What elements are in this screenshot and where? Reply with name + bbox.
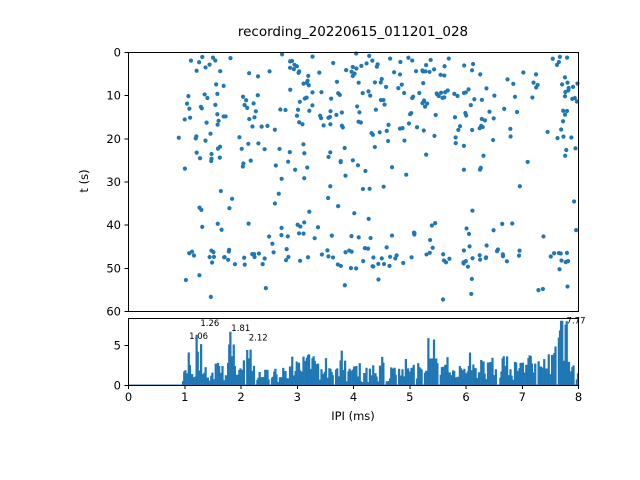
scatter-point (357, 235, 361, 239)
scatter-point (395, 253, 399, 257)
scatter-point (502, 107, 506, 111)
scatter-point (210, 260, 214, 264)
scatter-point (396, 86, 400, 90)
scatter-point (273, 201, 277, 205)
scatter-point (513, 95, 517, 99)
scatter-point (511, 82, 515, 86)
scatter-point (274, 163, 278, 167)
scatter-point (267, 234, 271, 238)
scatter-point (326, 116, 330, 120)
scatter-point (432, 67, 436, 71)
scatter-point (331, 255, 335, 259)
scatter-point (565, 284, 569, 288)
scatter-point (340, 110, 344, 114)
scatter-point (361, 259, 365, 263)
scatter-point (414, 69, 418, 73)
scatter-point (307, 109, 311, 113)
scatter-point (424, 153, 428, 157)
scatter-point (400, 126, 404, 130)
scatter-point (545, 130, 549, 134)
matplotlib-figure: recording_20220615_011201_028 0102030405… (0, 0, 640, 480)
scatter-point (530, 95, 534, 99)
scatter-point (306, 79, 310, 83)
scatter-point (508, 134, 512, 138)
scatter-point (454, 135, 458, 139)
scatter-point (431, 246, 435, 250)
scatter-point (469, 103, 473, 107)
scatter-point (361, 187, 365, 191)
scatter-point (325, 248, 329, 252)
scatter-point (541, 287, 545, 291)
scatter-point (267, 69, 271, 73)
scatter-point (215, 112, 219, 116)
scatter-point (326, 254, 330, 258)
scatter-point (240, 147, 244, 151)
y-tick-label: 60 (106, 305, 121, 319)
scatter-point (560, 82, 564, 86)
scatter-point (344, 68, 348, 72)
scatter-point (216, 119, 220, 123)
scatter-point (277, 192, 281, 196)
scatter-point (350, 250, 354, 254)
scatter-point (205, 96, 209, 100)
scatter-point (453, 115, 457, 119)
scatter-point (534, 72, 538, 76)
scatter-point (336, 91, 340, 95)
x-tick-label: 5 (406, 390, 413, 404)
scatter-point (265, 124, 269, 128)
scatter-point (478, 258, 482, 262)
scatter-point (208, 255, 212, 259)
scatter-point (464, 226, 468, 230)
scatter-point (177, 136, 181, 140)
scatter-point (250, 124, 254, 128)
scatter-point (428, 238, 432, 242)
scatter-point (398, 72, 402, 76)
scatter-point (209, 248, 213, 252)
scatter-point (427, 70, 431, 74)
scatter-point (376, 62, 380, 66)
scatter-point (227, 206, 231, 210)
scatter-point (209, 152, 213, 156)
scatter-point (343, 146, 347, 150)
scatter-point (200, 106, 204, 110)
scatter-point (384, 85, 388, 89)
x-tick-label: 3 (294, 390, 301, 404)
peak-annotation-label: 1.81 (231, 324, 250, 334)
scatter-point (373, 80, 377, 84)
scatter-point (398, 60, 402, 64)
scatter-point (200, 55, 204, 59)
peak-annotation-label: 7.77 (567, 317, 586, 327)
scatter-point (243, 263, 247, 267)
scatter-point (194, 134, 198, 138)
scatter-point (359, 64, 363, 68)
scatter-point (378, 130, 382, 134)
scatter-point (565, 81, 569, 85)
scatter-point (559, 251, 563, 255)
x-tick-label: 1 (181, 390, 188, 404)
scatter-point (222, 84, 226, 88)
scatter-point (290, 59, 294, 63)
scatter-point (385, 245, 389, 249)
scatter-point (549, 254, 553, 258)
scatter-point (555, 136, 559, 140)
scatter-point (264, 286, 268, 290)
scatter-point (434, 113, 438, 117)
scatter-point (371, 255, 375, 259)
scatter-point (390, 165, 394, 169)
scatter-point (561, 119, 565, 123)
scatter-point (297, 231, 301, 235)
scatter-point (492, 116, 496, 120)
peak-annotation-label: 1.06 (189, 332, 208, 342)
scatter-point (462, 248, 466, 252)
scatter-point (462, 63, 466, 67)
y-tick-label: 40 (106, 218, 121, 232)
scatter-point (270, 242, 274, 246)
scatter-point (197, 273, 201, 277)
scatter-point (339, 159, 343, 163)
scatter-point (367, 217, 371, 221)
scatter-point (463, 111, 467, 115)
scatter-point (183, 117, 187, 121)
scatter-point (484, 256, 488, 260)
scatter-point (296, 223, 300, 227)
scatter-point (218, 69, 222, 73)
scatter-point (340, 124, 344, 128)
scatter-point (565, 251, 569, 255)
scatter-point (228, 56, 232, 60)
scatter-point (256, 93, 260, 97)
figure-title: recording_20220615_011201_028 (238, 24, 468, 40)
scatter-point (285, 247, 289, 251)
scatter-point (368, 94, 372, 98)
scatter-point (574, 228, 578, 232)
scatter-point (435, 91, 439, 95)
scatter-point (359, 120, 363, 124)
scatter-point (510, 221, 514, 225)
scatter-point (219, 228, 223, 232)
scatter-point (354, 66, 358, 70)
scatter-point (557, 267, 561, 271)
scatter-point (469, 292, 473, 296)
scatter-point (373, 145, 377, 149)
scatter-point (508, 127, 512, 131)
peak-annotation-label: 1.26 (200, 319, 219, 329)
scatter-point (371, 264, 375, 268)
scatter-point (242, 256, 246, 260)
scatter-point (442, 95, 446, 99)
scatter-point (292, 63, 296, 67)
scatter-point (343, 283, 347, 287)
scatter-point (411, 95, 415, 99)
scatter-point (195, 150, 199, 154)
scatter-point (442, 64, 446, 68)
scatter-point (517, 254, 521, 258)
scatter-point (572, 199, 576, 203)
scatter-point (249, 159, 253, 163)
scatter-point (212, 255, 216, 259)
scatter-point (326, 155, 330, 159)
scatter-point (313, 236, 317, 240)
scatter-point (305, 165, 309, 169)
scatter-point (363, 169, 367, 173)
scatter-point (386, 123, 390, 127)
scatter-point (279, 226, 283, 230)
scatter-point (288, 66, 292, 70)
scatter-point (183, 167, 187, 171)
scatter-point (392, 70, 396, 74)
scatter-point (386, 139, 390, 143)
scatter-point (328, 150, 332, 154)
scatter-point (301, 142, 305, 146)
scatter-point (247, 71, 251, 75)
y-tick-label: 10 (106, 89, 121, 103)
scatter-point (402, 91, 406, 95)
scatter-point (470, 128, 474, 132)
scatter-point (566, 88, 570, 92)
scatter-point (209, 295, 213, 299)
scatter-point (186, 94, 190, 98)
scatter-point (470, 209, 474, 213)
scatter-point (423, 69, 427, 73)
y-tick-label: 30 (106, 175, 121, 189)
scatter-point (441, 252, 445, 256)
scatter-point (257, 251, 261, 255)
scatter-point (288, 150, 292, 154)
scatter-point (472, 97, 476, 101)
y-tick-label: 20 (106, 132, 121, 146)
scatter-point (328, 122, 332, 126)
scatter-point (573, 146, 577, 150)
scatter-point (352, 211, 356, 215)
x-tick-label: 2 (237, 390, 244, 404)
scatter-point (406, 56, 410, 60)
scatter-point (387, 264, 391, 268)
scatter-point (424, 63, 428, 67)
scatter-point (189, 58, 193, 62)
scatter-point (442, 258, 446, 262)
scatter-point (331, 61, 335, 65)
y-tick-label: 50 (106, 261, 121, 275)
scatter-point (531, 81, 535, 85)
scatter-point (366, 89, 370, 93)
scatter-point (479, 124, 483, 128)
scatter-point (417, 91, 421, 95)
scatter-point (355, 104, 359, 108)
scatter-point (356, 163, 360, 167)
scatter-point (561, 135, 565, 139)
scatter-point (408, 112, 412, 116)
scatter-point (280, 177, 284, 181)
scatter-point (317, 71, 321, 75)
scatter-point (318, 114, 322, 118)
scatter-point (307, 83, 311, 87)
y-tick-label: 5 (114, 339, 121, 353)
scatter-point (207, 62, 211, 66)
scatter-point (483, 118, 487, 122)
scatter-point (492, 94, 496, 98)
scatter-point (447, 257, 451, 261)
scatter-point (349, 266, 353, 270)
scatter-point (402, 138, 406, 142)
scatter-point (328, 109, 332, 113)
scatter-point (204, 121, 208, 125)
scatter-point (505, 77, 509, 81)
scatter-point (484, 86, 488, 90)
scatter-point (306, 74, 310, 78)
scatter-point (357, 81, 361, 85)
scatter-point (452, 92, 456, 96)
scatter-point (216, 147, 220, 151)
scatter-point (470, 277, 474, 281)
scatter-point (252, 115, 256, 119)
scatter-point (480, 98, 484, 102)
scatter-point (330, 234, 334, 238)
scatter-point (390, 233, 394, 237)
scatter-point (551, 57, 555, 61)
scatter-point (203, 65, 207, 69)
scatter-point (570, 97, 574, 101)
scatter-point (188, 116, 192, 120)
scatter-point (303, 96, 307, 100)
scatter-point (462, 91, 466, 95)
scatter-point (316, 225, 320, 229)
peak-annotation-label: 2.12 (249, 333, 268, 343)
scatter-point (343, 174, 347, 178)
scatter-point (197, 60, 201, 64)
scatter-point (273, 128, 277, 132)
scatter-point (454, 141, 458, 145)
scatter-point (380, 256, 384, 260)
scatter-point (222, 114, 226, 118)
scatter-point (302, 151, 306, 155)
scatter-point (301, 232, 305, 236)
scatter-point (334, 113, 338, 117)
scatter-point (563, 154, 567, 158)
scatter-point (261, 262, 265, 266)
scatter-point (430, 223, 434, 227)
scatter-point (263, 256, 267, 260)
scatter-point (559, 127, 563, 131)
scatter-point (218, 156, 222, 160)
scatter-point (209, 157, 213, 161)
scatter-point (370, 59, 374, 63)
scatter-point (296, 71, 300, 75)
scatter-point (364, 61, 368, 65)
scatter-point (343, 250, 347, 254)
scatter-point (423, 105, 427, 109)
scatter-point (470, 256, 474, 260)
scatter-point (369, 236, 373, 240)
scatter-point (441, 297, 445, 301)
scatter-point (223, 255, 227, 259)
scatter-point (352, 72, 356, 76)
scatter-point (336, 204, 340, 208)
scatter-point (296, 108, 300, 112)
scatter-point (245, 106, 249, 110)
scatter-point (310, 103, 314, 107)
scatter-point (432, 134, 436, 138)
scatter-point (241, 164, 245, 168)
scatter-point (400, 83, 404, 87)
scatter-point (351, 158, 355, 162)
scatter-point (247, 221, 251, 225)
scatter-point (536, 288, 540, 292)
scatter-point (203, 139, 207, 143)
x-tick-label: 0 (125, 390, 132, 404)
scatter-point (534, 85, 538, 89)
scatter-point (422, 98, 426, 102)
scatter-point (226, 258, 230, 262)
scatter-point (521, 70, 525, 74)
scatter-point (320, 252, 324, 256)
scatter-point (292, 67, 296, 71)
scatter-point (279, 233, 283, 237)
scatter-point (283, 108, 287, 112)
scatter-point (466, 265, 470, 269)
scatter-point (467, 244, 471, 248)
scatter-point (301, 82, 305, 86)
scatter-point (518, 184, 522, 188)
scatter-point (335, 80, 339, 84)
scatter-point (471, 62, 475, 66)
scatter-point (515, 110, 519, 114)
scatter-point (199, 208, 203, 212)
scatter-point (363, 246, 367, 250)
scatter-point (351, 65, 355, 69)
scatter-point (233, 262, 237, 266)
y-tick-label: 0 (114, 379, 121, 393)
scatter-point (410, 58, 414, 62)
scatter-point (409, 255, 413, 259)
scatter-point (200, 225, 204, 229)
scatter-point (439, 91, 443, 95)
scatter-point (184, 278, 188, 282)
scatter-point (501, 252, 505, 256)
scatter-point (401, 261, 405, 265)
x-axis-label: IPI (ms) (331, 409, 375, 423)
scatter-point (467, 232, 471, 236)
scatter-point (517, 249, 521, 253)
scatter-point (286, 160, 290, 164)
scatter-point (241, 95, 245, 99)
scatter-point (185, 102, 189, 106)
scatter-point (479, 166, 483, 170)
scatter-point (500, 222, 504, 226)
scatter-point (571, 85, 575, 89)
scatter-point (564, 260, 568, 264)
scatter-point (310, 90, 314, 94)
x-tick-label: 7 (519, 390, 526, 404)
scatter-point (458, 124, 462, 128)
scatter-point (379, 80, 383, 84)
scatter-point (298, 259, 302, 263)
scatter-point (326, 196, 330, 200)
scatter-point (487, 110, 491, 114)
scatter-point (388, 255, 392, 259)
scatter-point (310, 55, 314, 59)
scatter-point (505, 259, 509, 263)
scatter-point (456, 128, 460, 132)
scatter-point (563, 75, 567, 79)
scatter-point (481, 154, 485, 158)
scatter-point (382, 185, 386, 189)
scatter-point (293, 168, 297, 172)
scatter-point (376, 277, 380, 281)
scatter-point (198, 156, 202, 160)
